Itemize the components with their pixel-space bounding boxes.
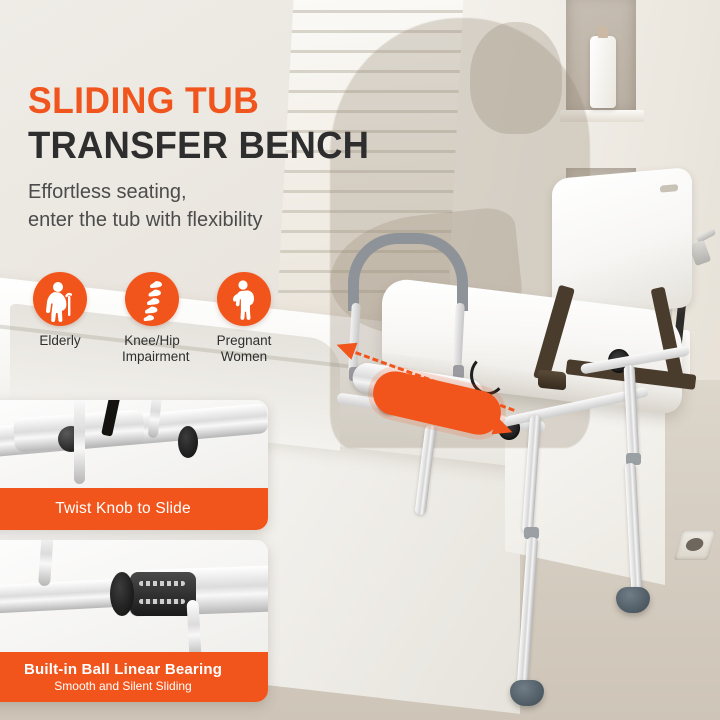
twist-knob-closeup-photo <box>0 400 268 488</box>
belt-buckle <box>538 370 566 391</box>
headline-line-2: TRANSFER BENCH <box>28 127 369 165</box>
photo-vertical-tube <box>74 400 85 484</box>
feature-card-2-title: Built-in Ball Linear Bearing <box>24 661 222 678</box>
feature-card-2-label: Built-in Ball Linear Bearing Smooth and … <box>0 652 268 702</box>
spine-vertebrae-icon <box>125 272 179 326</box>
transfer-bench-product <box>330 175 720 720</box>
subtitle-line-2: enter the tub with flexibility <box>28 206 263 234</box>
photo-upright-tube <box>38 540 54 586</box>
persona-label: Elderly <box>30 333 90 349</box>
persona-label: Knee/Hip Impairment <box>122 333 182 366</box>
rubber-foot-rear-right <box>616 587 650 613</box>
feature-card-twist-knob: Twist Knob to Slide <box>0 400 268 530</box>
headline-line-1: SLIDING TUB <box>28 82 369 119</box>
shampoo-bottle <box>590 36 616 108</box>
elderly-person-with-cane-icon <box>33 272 87 326</box>
feature-card-1-label: Twist Knob to Slide <box>0 488 268 530</box>
persona-pregnant: Pregnant Women <box>214 272 274 366</box>
ball-linear-bearing-closeup-photo <box>0 540 268 652</box>
persona-icon-row: Elderly Knee/Hip Impairment <box>30 272 274 366</box>
photo-bearing-collar <box>110 572 134 616</box>
grab-handle <box>348 233 468 311</box>
rubber-foot-front-left <box>510 680 544 706</box>
subtitle-block: Effortless seating, enter the tub with f… <box>28 178 263 235</box>
bench-backrest <box>552 167 692 319</box>
headline-block: SLIDING TUB TRANSFER BENCH <box>28 82 383 165</box>
leg-front-left-upper <box>522 415 541 533</box>
product-marketing-image: SLIDING TUB TRANSFER BENCH Effortless se… <box>0 0 720 720</box>
leg-rear-right-lower <box>625 463 643 593</box>
photo-end-ring <box>178 426 198 458</box>
feature-card-2-subtitle: Smooth and Silent Sliding <box>54 679 191 693</box>
feature-card-1-title: Twist Knob to Slide <box>55 500 191 518</box>
persona-elderly: Elderly <box>30 272 90 366</box>
leg-front-left-lower <box>517 537 538 687</box>
persona-knee-hip: Knee/Hip Impairment <box>122 272 182 366</box>
feature-card-ball-bearing: Built-in Ball Linear Bearing Smooth and … <box>0 540 268 702</box>
leg-rear-left <box>415 425 437 516</box>
person-silhouette-head <box>470 22 562 134</box>
persona-label: Pregnant Women <box>214 333 274 366</box>
subtitle-line-1: Effortless seating, <box>28 178 263 206</box>
pregnant-woman-icon <box>217 272 271 326</box>
handle-leg-left <box>348 303 361 373</box>
